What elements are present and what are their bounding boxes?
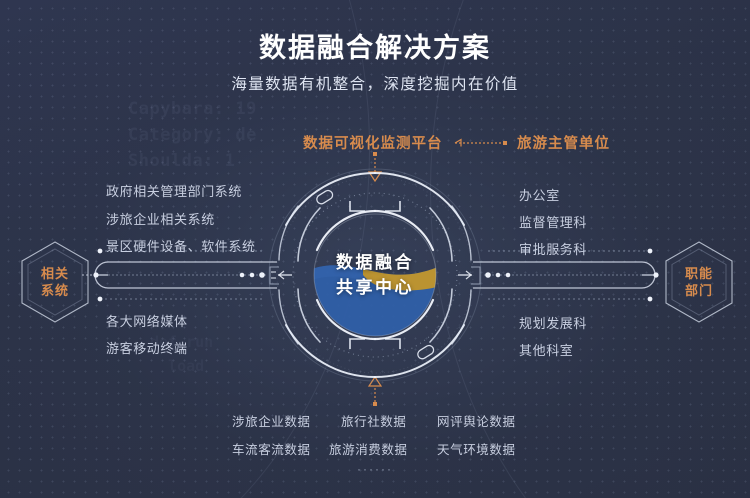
hexagon-related-systems: 相关 系统 [18,240,92,324]
right-item-3: 规划发展科 [519,313,587,332]
hexagon-left-line1: 相关 [41,265,69,282]
left-item-2: 景区硬件设备、软件系统 [106,236,256,255]
hexagon-right-line1: 职能 [685,265,713,282]
left-item-3: 各大网络媒体 [106,311,188,330]
hexagon-left-label: 相关 系统 [18,240,92,324]
right-item-4: 其他科室 [519,340,573,359]
bottom-item-r2c3: 天气环境数据 [437,439,516,458]
right-item-1: 监督管理科 [519,212,587,231]
dotted-left-arrow-icon [447,138,509,148]
left-item-4: 游客移动终端 [106,338,188,357]
hexagon-right-line2: 部门 [685,282,713,299]
hexagon-left-line2: 系统 [41,282,69,299]
label-visualization-platform: 数据可视化监测平台 [303,132,443,153]
hexagon-right-label: 职能 部门 [662,240,736,324]
central-hub-graphic [268,168,482,382]
page-subtitle: 海量数据有机整合，深度挖掘内在价值 [0,72,750,94]
bottom-item-r1c3: 网评舆论数据 [437,411,516,430]
infographic-canvas: Capybara: 19 Category: de Shoulda: 1 def… [0,0,750,498]
bottom-ellipsis: ······ [0,462,750,476]
bottom-item-r2c1: 车流客流数据 [232,439,311,458]
left-item-1: 涉旅企业相关系统 [106,209,215,228]
label-tourism-authority: 旅游主管单位 [517,132,610,153]
right-item-2: 审批服务科 [519,239,587,258]
bottom-item-r1c1: 涉旅企业数据 [232,411,311,430]
bottom-item-r2c2: 旅游消费数据 [329,439,408,458]
bottom-item-r1c2: 旅行社数据 [341,411,407,430]
right-item-0: 办公室 [519,185,560,204]
left-item-0: 政府相关管理部门系统 [106,181,242,200]
page-title: 数据融合解决方案 [0,26,750,65]
hexagon-functional-departments: 职能 部门 [662,240,736,324]
